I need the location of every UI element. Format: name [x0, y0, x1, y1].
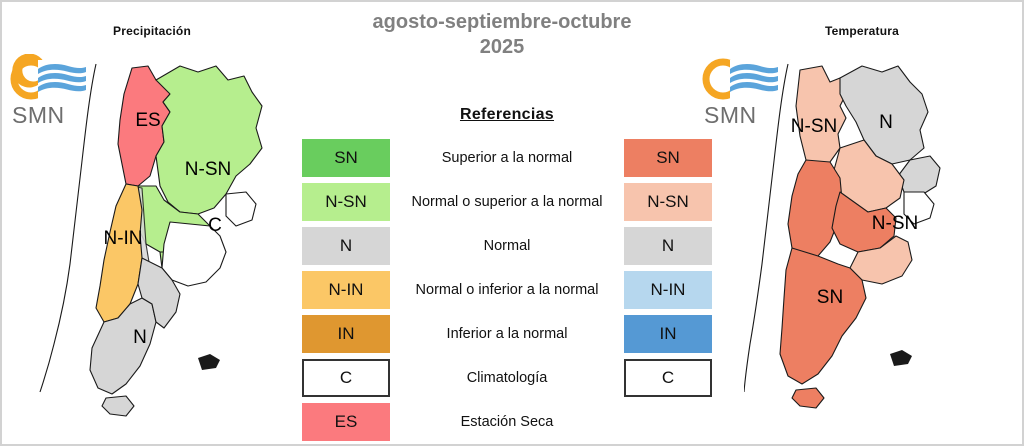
legend-row: INInferior a la normalIN	[302, 314, 712, 354]
precip-label-2: N-IN	[103, 228, 142, 249]
legend-description: Climatología	[390, 370, 624, 386]
legend-swatch-temp-n-sn: N-SN	[624, 183, 712, 221]
legend-swatch-precip-in: IN	[302, 315, 390, 353]
legend-row: NNormalN	[302, 226, 712, 266]
legend-description: Normal	[390, 238, 624, 254]
legend: Referencias SNSuperior a la normalSNN-SN…	[302, 106, 712, 446]
legend-swatch-temp-n-in: N-IN	[624, 271, 712, 309]
legend-row: CClimatologíaC	[302, 358, 712, 398]
legend-swatch-temp-sn: SN	[624, 139, 712, 177]
legend-swatch-temp-in: IN	[624, 315, 712, 353]
legend-description: Estación Seca	[390, 414, 624, 430]
title-line-period: agosto-septiembre-octubre	[332, 10, 672, 35]
legend-row: N-SNNormal o superior a la normalN-SN	[302, 182, 712, 222]
legend-row: ESEstación SecaES	[302, 402, 712, 442]
legend-swatch-precip-es: ES	[302, 403, 390, 441]
legend-swatch-temp-n: N	[624, 227, 712, 265]
infographic-root: agosto-septiembre-octubre 2025 Precipita…	[0, 0, 1024, 446]
legend-swatch-precip-c: C	[302, 359, 390, 397]
precip-label-1: N-SN	[185, 159, 231, 180]
legend-swatch-precip-n: N	[302, 227, 390, 265]
page-title: agosto-septiembre-octubre 2025	[332, 10, 672, 60]
legend-description: Normal o superior a la normal	[390, 194, 624, 210]
precip-label-3: C	[208, 215, 222, 236]
precip-label-0: ES	[135, 110, 160, 131]
legend-swatch-precip-n-in: N-IN	[302, 271, 390, 309]
precip-label-4: N	[133, 327, 147, 348]
legend-description: Normal o inferior a la normal	[390, 282, 624, 298]
legend-row: SNSuperior a la normalSN	[302, 138, 712, 178]
legend-swatch-temp-c: C	[624, 359, 712, 397]
temp-label-1: N	[879, 112, 893, 133]
legend-row: N-INNormal o inferior a la normalN-IN	[302, 270, 712, 310]
temperature-map-graphic: N-SN N N-SN SN	[744, 36, 1004, 436]
legend-rows: SNSuperior a la normalSNN-SNNormal o sup…	[302, 138, 712, 442]
legend-description: Superior a la normal	[390, 150, 624, 166]
precipitation-map-graphic: ES N-SN N-IN C N	[30, 36, 290, 436]
temp-label-3: SN	[817, 287, 843, 308]
legend-description: Inferior a la normal	[390, 326, 624, 342]
legend-swatch-precip-n-sn: N-SN	[302, 183, 390, 221]
legend-swatch-precip-sn: SN	[302, 139, 390, 177]
temp-label-0: N-SN	[791, 116, 837, 137]
legend-title: Referencias	[302, 106, 712, 124]
title-line-year: 2025	[332, 35, 672, 60]
temp-label-2: N-SN	[872, 213, 918, 234]
